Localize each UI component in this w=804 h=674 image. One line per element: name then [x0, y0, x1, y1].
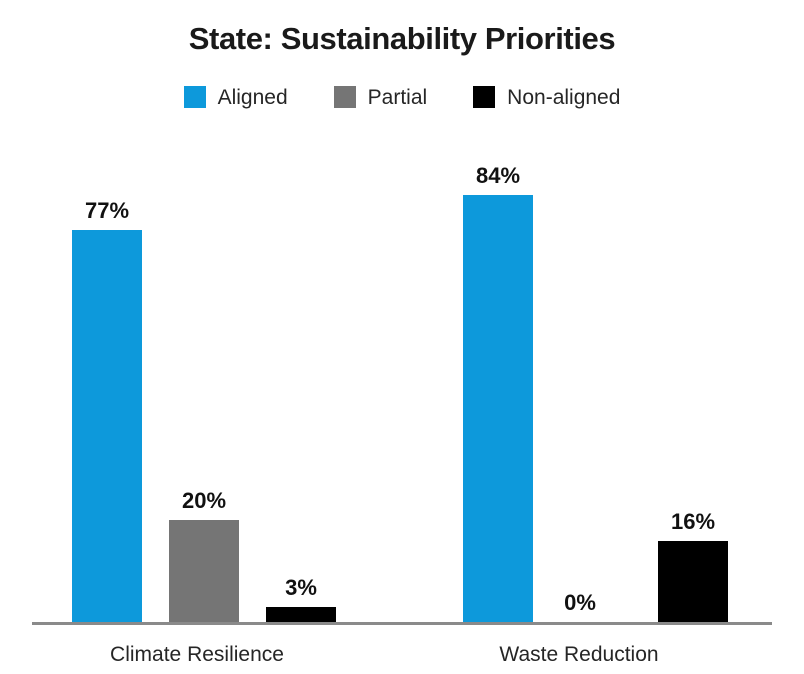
bar-climate-resilience-aligned-value-label: 77%	[52, 200, 162, 222]
x-axis-baseline	[32, 622, 772, 625]
category-label-climate-resilience: Climate Resilience	[47, 644, 347, 665]
bar-climate-resilience-non-aligned-value-label: 3%	[246, 577, 356, 599]
plot-area: 77%20%3%84%0%16%Climate ResilienceWaste …	[0, 0, 804, 674]
bar-climate-resilience-partial-value-label: 20%	[149, 490, 259, 512]
bar-waste-reduction-aligned-value-label: 84%	[443, 165, 553, 187]
chart-page: State: Sustainability Priorities Aligned…	[0, 0, 804, 674]
bar-waste-reduction-partial-value-label: 0%	[525, 592, 635, 614]
category-label-waste-reduction: Waste Reduction	[429, 644, 729, 665]
bar-climate-resilience-non-aligned[interactable]	[266, 607, 336, 622]
bar-waste-reduction-non-aligned[interactable]	[658, 541, 728, 622]
bar-climate-resilience-partial[interactable]	[169, 520, 239, 622]
bar-climate-resilience-aligned[interactable]	[72, 230, 142, 622]
bar-waste-reduction-aligned[interactable]	[463, 195, 533, 622]
bar-waste-reduction-non-aligned-value-label: 16%	[638, 511, 748, 533]
